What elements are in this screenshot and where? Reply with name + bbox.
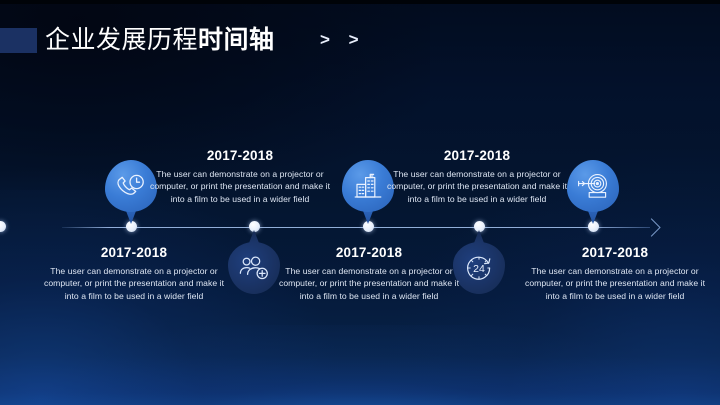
slide-canvas: 企业发展历程时间轴 > > 2017-2018 The user can dem… (0, 0, 720, 405)
timeline-year-5: 2017-2018 (524, 245, 706, 260)
timeline-year-3: 2017-2018 (386, 148, 568, 163)
timeline-year-1: 2017-2018 (149, 148, 331, 163)
timeline-pin-4[interactable]: 24 (453, 228, 505, 294)
add-users-icon (228, 252, 280, 284)
timeline-desc-4: The user can demonstrate on a projector … (278, 265, 460, 302)
timeline-card-2: 2017-2018 The user can demonstrate on a … (43, 245, 225, 302)
timeline-desc-1: The user can demonstrate on a projector … (149, 168, 331, 205)
svg-text:24: 24 (473, 263, 485, 275)
page-title: 企业发展历程时间轴 (45, 24, 275, 56)
timeline-card-4: 2017-2018 The user can demonstrate on a … (278, 245, 460, 302)
timeline-pin-2[interactable] (228, 228, 280, 294)
top-edge-bar (0, 0, 720, 4)
timeline-pin-5[interactable] (567, 160, 619, 226)
double-chevron-right-icon: > > (320, 30, 366, 50)
title-accent-block (0, 28, 37, 53)
timeline-desc-2: The user can demonstrate on a projector … (43, 265, 225, 302)
timeline-desc-3: The user can demonstrate on a projector … (386, 168, 568, 205)
timeline-axis (62, 227, 650, 228)
timeline-desc-5: The user can demonstrate on a projector … (524, 265, 706, 302)
timeline-card-3: 2017-2018 The user can demonstrate on a … (386, 148, 568, 205)
24-hour-service-icon: 24 (453, 252, 505, 284)
page-title-bold: 时间轴 (198, 26, 275, 54)
timeline-year-2: 2017-2018 (43, 245, 225, 260)
page-title-light: 企业发展历程 (45, 26, 198, 54)
timeline-card-5: 2017-2018 The user can demonstrate on a … (524, 245, 706, 302)
timeline-year-4: 2017-2018 (278, 245, 460, 260)
target-arrow-icon (567, 170, 619, 202)
timeline-card-1: 2017-2018 The user can demonstrate on a … (149, 148, 331, 205)
